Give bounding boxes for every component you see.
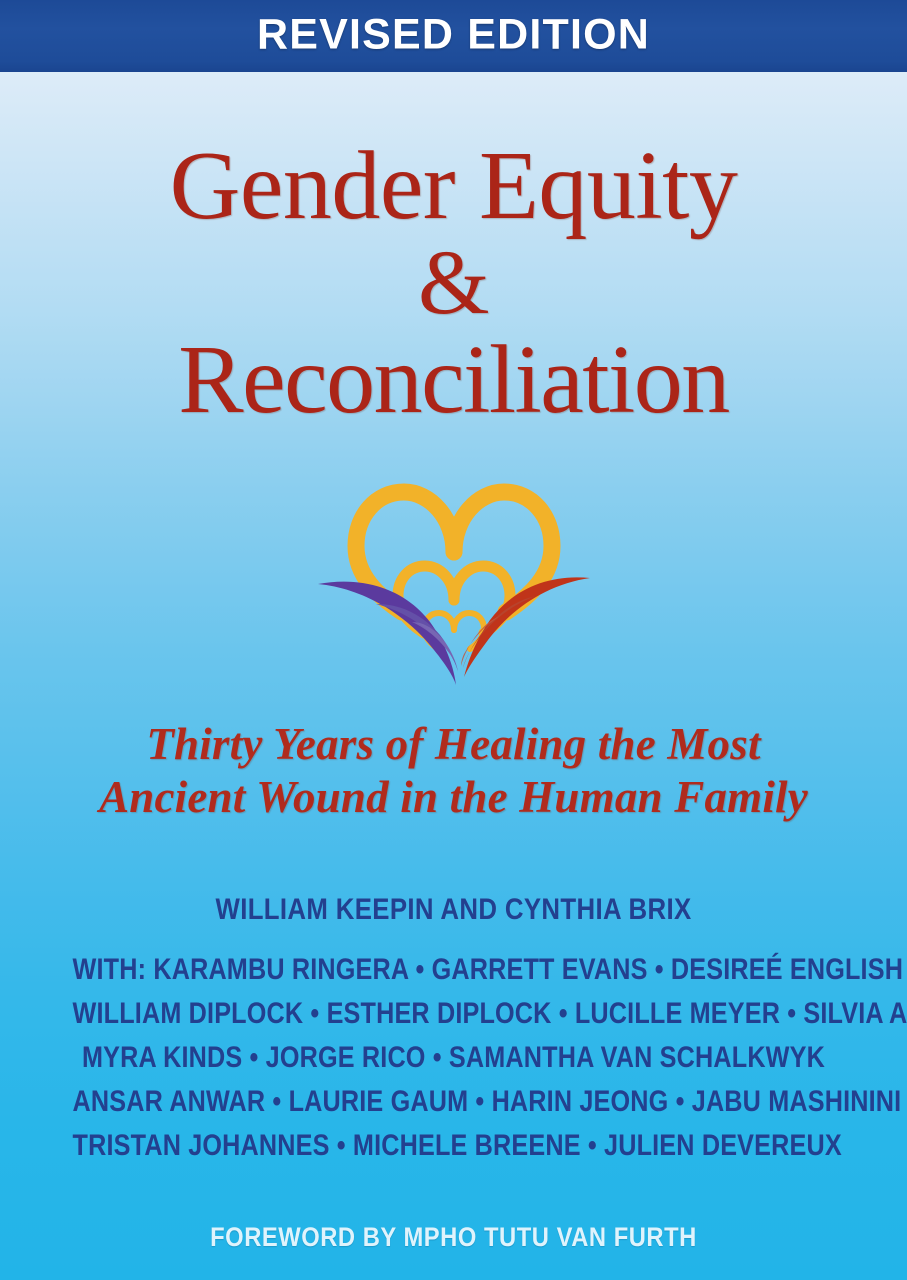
nested-hearts-with-wings-logo	[304, 472, 604, 687]
title-line-1: Gender Equity	[0, 138, 907, 234]
title-line-3: Reconciliation	[0, 332, 907, 428]
book-cover: REVISED EDITION Gender Equity & Reconcil…	[0, 0, 907, 1280]
revised-edition-label: REVISED EDITION	[0, 11, 907, 60]
contributor-line: ANSAR ANWAR • LAURIE GAUM • HARIN JEONG …	[73, 1080, 835, 1124]
subtitle-line-1: Thirty Years of Healing the Most	[0, 718, 907, 771]
author-names: WILLIAM KEEPIN AND CYNTHIA BRIX	[63, 893, 843, 927]
foreword-credit: FOREWORD BY MPHO TUTU VAN FURTH	[54, 1222, 852, 1253]
contributor-list: WITH: KARAMBU RINGERA • GARRETT EVANS • …	[0, 948, 907, 1168]
contributor-line: MYRA KINDS • JORGE RICO • SAMANTHA VAN S…	[73, 1036, 835, 1080]
subtitle-line-2: Ancient Wound in the Human Family	[0, 771, 907, 824]
contributor-line: WITH: KARAMBU RINGERA • GARRETT EVANS • …	[73, 948, 835, 992]
contributor-line: WILLIAM DIPLOCK • ESTHER DIPLOCK • LUCIL…	[73, 992, 835, 1036]
contributor-line: TRISTAN JOHANNES • MICHELE BREENE • JULI…	[73, 1124, 835, 1168]
title-ampersand: &	[0, 234, 907, 332]
book-title: Gender Equity & Reconciliation	[0, 138, 907, 428]
revised-edition-banner: REVISED EDITION	[0, 0, 907, 72]
book-subtitle: Thirty Years of Healing the Most Ancient…	[0, 718, 907, 824]
